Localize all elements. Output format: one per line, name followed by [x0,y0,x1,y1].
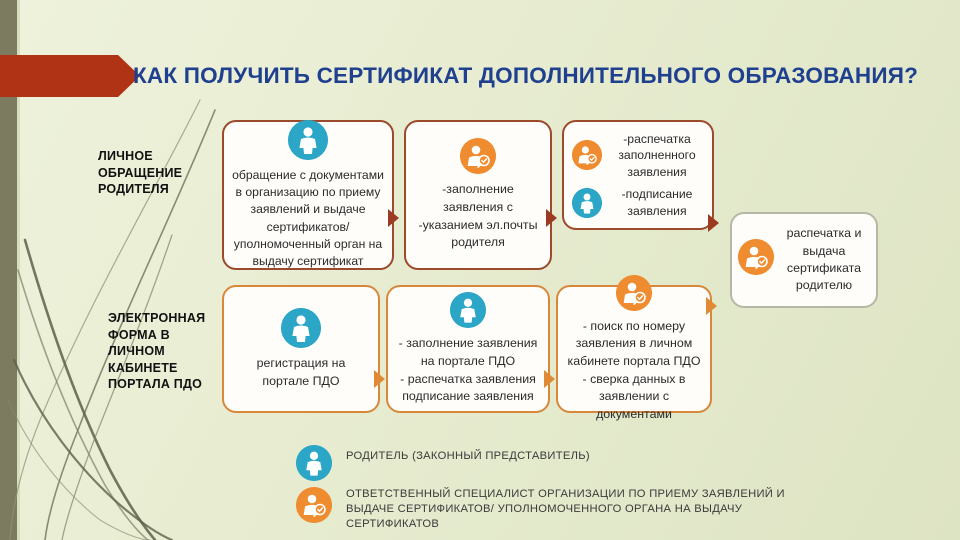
flow-step-text: обращение с документами в организацию по… [232,167,384,269]
connector-arrow-row2-1 [374,370,385,388]
flow-step-row1-col3[interactable]: -распечатка заполненного заявления -подп… [562,120,714,230]
flow-step-text: распечатка и выдача сертификата родителю [780,225,868,294]
flow-step-subrow-print: -распечатка заполненного заявления [572,131,704,181]
row-label-personal-visit: ЛИЧНОЕ ОБРАЩЕНИЕ РОДИТЕЛЯ [98,148,213,198]
flow-step-subrow-sign: -подписание заявления [572,186,704,219]
specialist-person-search-icon [572,140,602,170]
title-banner-arrow [0,55,118,97]
page-title: КАК ПОЛУЧИТЬ СЕРТИФИКАТ ДОПОЛНИТЕЛЬНОГО … [133,56,933,96]
parent-person-icon [281,308,321,348]
legend: РОДИТЕЛЬ (ЗАКОННЫЙ ПРЕДСТАВИТЕЛЬ) ОТВЕТС… [296,445,956,538]
specialist-person-search-icon [296,487,332,523]
flow-step-text: регистрация на портале ПДО [232,355,370,390]
slide-canvas: КАК ПОЛУЧИТЬ СЕРТИФИКАТ ДОПОЛНИТЕЛЬНОГО … [0,0,960,540]
flow-step-row1-col2[interactable]: -заполнение заявления с -указанием эл.по… [404,120,552,270]
row-label-electronic-form: ЭЛЕКТРОННАЯ ФОРМА В ЛИЧНОМ КАБИНЕТЕ ПОРТ… [108,310,226,393]
parent-person-icon [572,188,602,218]
parent-person-icon [288,120,328,160]
flow-step-row2-col1[interactable]: регистрация на портале ПДО [222,285,380,413]
connector-arrow-row2-3 [706,297,717,315]
flow-step-final-issue-certificate[interactable]: распечатка и выдача сертификата родителю [730,212,878,308]
flow-step-row1-col1[interactable]: обращение с документами в организацию по… [222,120,394,270]
legend-label: ОТВЕТСТВЕННЫЙ СПЕЦИАЛИСТ ОРГАНИЗАЦИИ ПО … [346,487,785,532]
flow-step-text: -заполнение заявления с -указанием эл.по… [414,181,542,251]
parent-person-icon [296,445,332,481]
flow-step-text: -подписание заявления [610,186,704,219]
flow-step-row2-col3[interactable]: - поиск по номеру заявления в личном каб… [556,285,712,413]
legend-label: РОДИТЕЛЬ (ЗАКОННЫЙ ПРЕДСТАВИТЕЛЬ) [346,445,590,464]
connector-arrow-row2-2 [544,370,555,388]
parent-person-icon [450,292,486,328]
flow-step-text: -распечатка заполненного заявления [610,131,704,181]
connector-arrow-row1-1 [388,209,399,227]
specialist-person-search-icon [738,239,774,275]
specialist-person-search-icon [616,275,652,311]
legend-item-specialist: ОТВЕТСТВЕННЫЙ СПЕЦИАЛИСТ ОРГАНИЗАЦИИ ПО … [296,487,956,532]
connector-arrow-row1-2 [546,209,557,227]
specialist-person-search-icon [460,138,496,174]
connector-arrow-row1-3 [708,214,719,232]
legend-item-parent: РОДИТЕЛЬ (ЗАКОННЫЙ ПРЕДСТАВИТЕЛЬ) [296,445,956,481]
flow-step-text: - заполнение заявления на портале ПДО - … [396,335,540,405]
flow-step-row2-col2[interactable]: - заполнение заявления на портале ПДО - … [386,285,550,413]
flow-step-text: - поиск по номеру заявления в личном каб… [566,318,702,424]
